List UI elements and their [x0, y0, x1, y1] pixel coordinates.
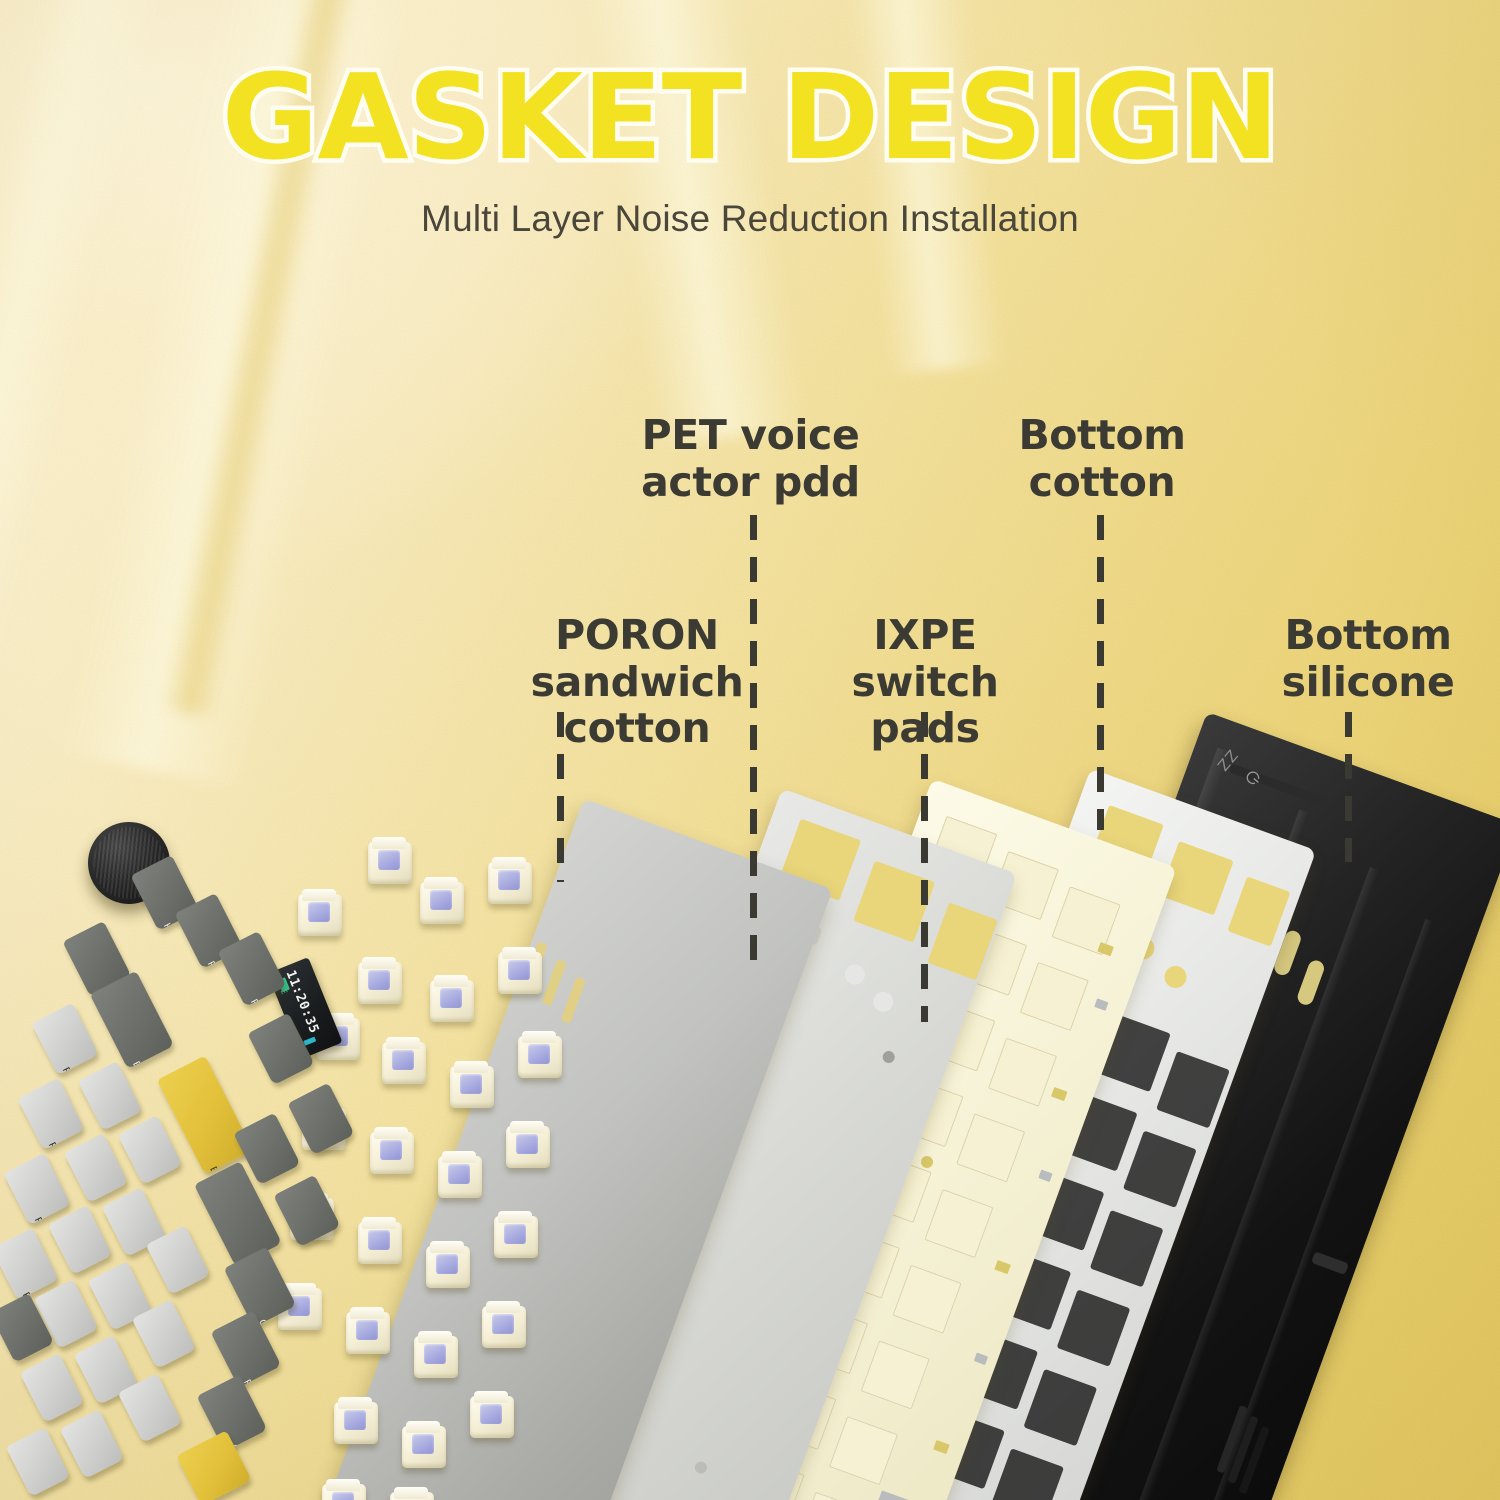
mechanical-switch	[450, 1066, 494, 1108]
mechanical-switch	[470, 1396, 514, 1438]
mechanical-switch	[382, 1042, 426, 1084]
mechanical-switch	[298, 894, 342, 936]
mechanical-switch	[402, 1426, 446, 1468]
callout-label-ixpe: IXPE switch pads	[790, 612, 1060, 752]
mechanical-switch	[430, 980, 474, 1022]
callout-label-poron: PORON sandwich cotton	[472, 612, 802, 752]
leader-line-bottom-silicone	[1345, 712, 1352, 862]
leader-line-ixpe	[921, 712, 928, 1022]
mechanical-switch	[438, 1156, 482, 1198]
mechanical-switch	[390, 1492, 434, 1500]
mechanical-switch	[498, 952, 542, 994]
mechanical-switch	[506, 1126, 550, 1168]
oled-indicator	[303, 1037, 316, 1046]
mechanical-switch	[488, 862, 532, 904]
callout-label-pet: PET voice actor pdd	[613, 412, 888, 505]
leader-line-bottom-cotton	[1097, 515, 1104, 830]
mechanical-switch	[370, 1132, 414, 1174]
page-title: GASKET DESIGN	[0, 55, 1500, 180]
mechanical-switch	[358, 962, 402, 1004]
mechanical-switch	[322, 1484, 366, 1500]
product-feature-poster: GASKET DESIGN Multi Layer Noise Reductio…	[0, 0, 1500, 1500]
mechanical-switch	[494, 1216, 538, 1258]
mechanical-switch	[346, 1312, 390, 1354]
mechanical-switch	[368, 842, 412, 884]
mechanical-switch	[518, 1036, 562, 1078]
page-subtitle: Multi Layer Noise Reduction Installation	[0, 198, 1500, 240]
mechanical-switch	[482, 1306, 526, 1348]
mechanical-switch	[358, 1222, 402, 1264]
callout-label-bottom-cotton: Bottom cotton	[982, 412, 1222, 505]
mechanical-switch	[426, 1246, 470, 1288]
mechanical-switch	[420, 882, 464, 924]
switch-field-layer	[270, 820, 690, 1500]
mechanical-switch	[414, 1336, 458, 1378]
mechanical-switch	[334, 1402, 378, 1444]
callout-label-bottom-silicone: Bottom silicone	[1243, 612, 1493, 705]
